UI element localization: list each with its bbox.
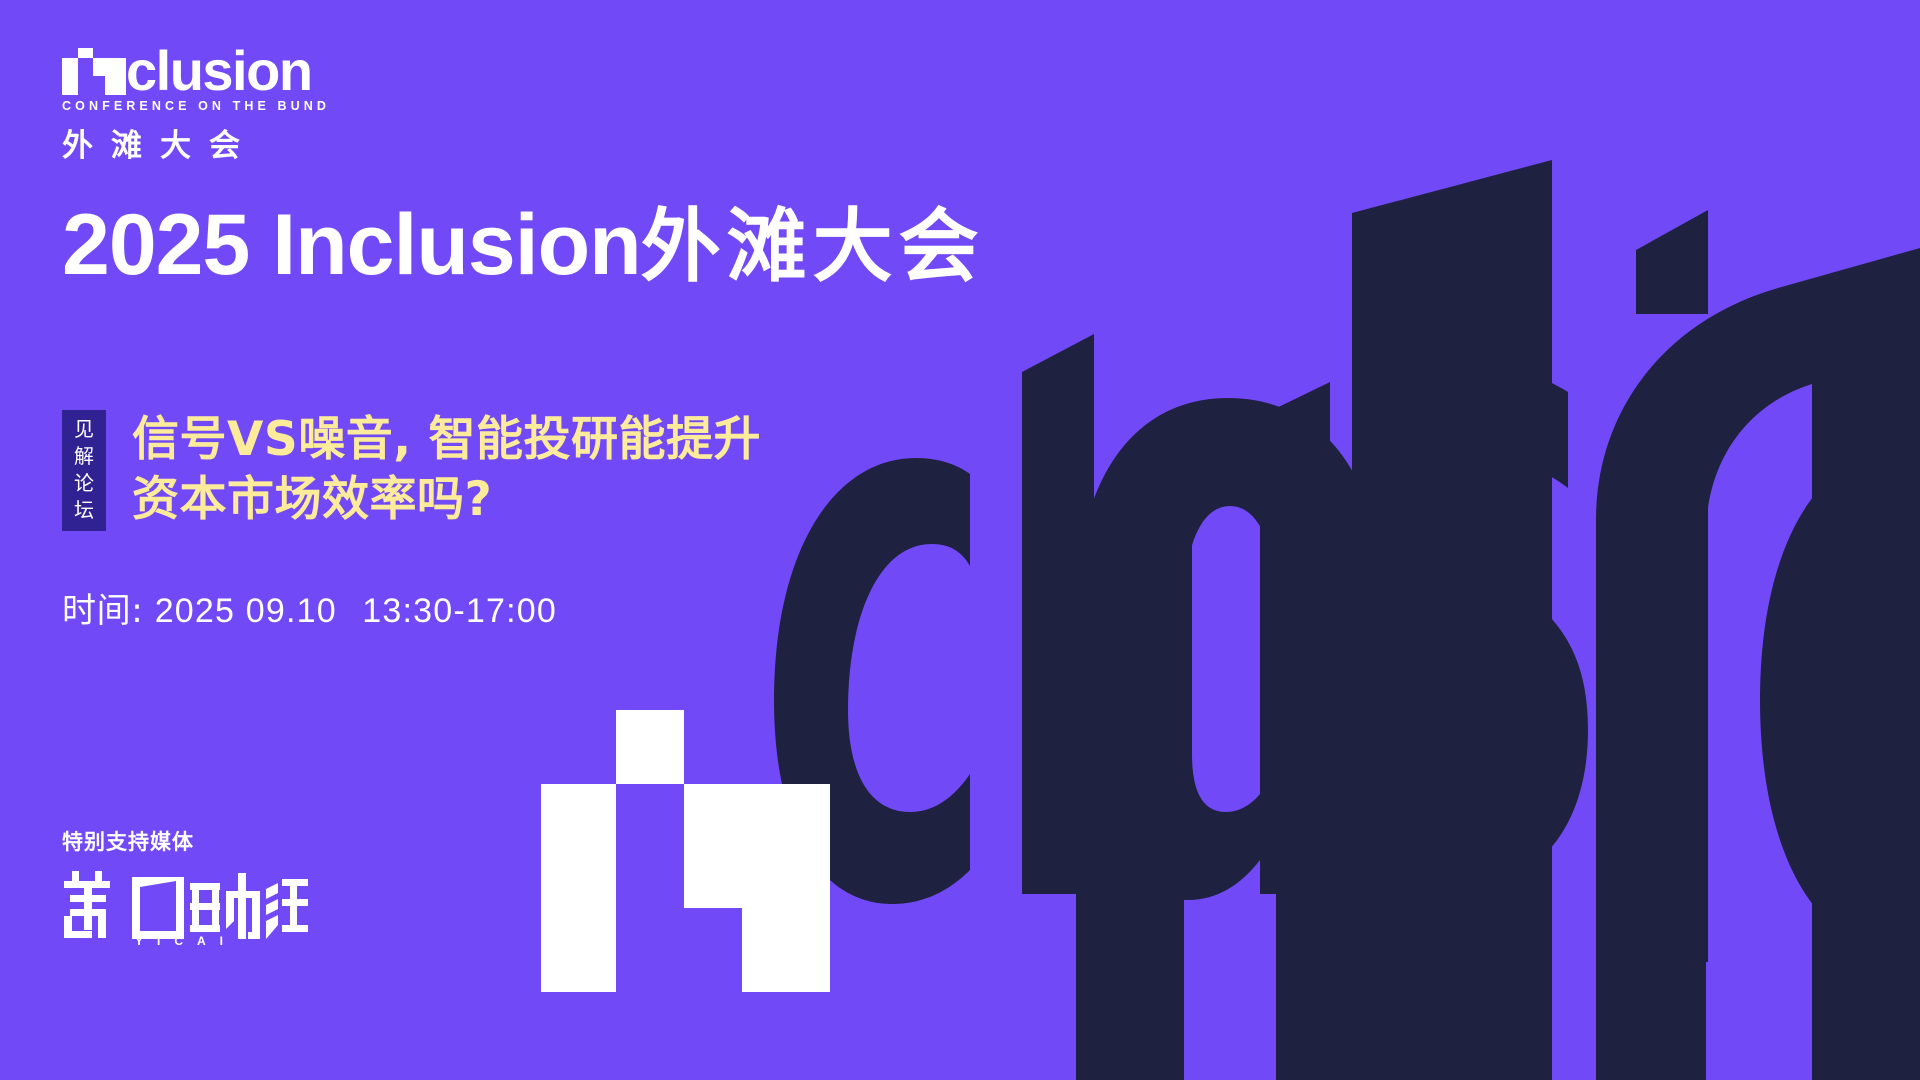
- header-logo-wordmark: clusion: [62, 48, 332, 96]
- session-subtitle-line-2: 资本市场效率吗?: [132, 470, 761, 530]
- forum-badge-char-3: 论: [62, 470, 106, 497]
- yicai-logo-latin: YICAI: [135, 934, 237, 947]
- yicai-logo-char-jing: [266, 879, 308, 939]
- header-logo[interactable]: clusion CONFERENCE ON THE BUND 外滩大会: [62, 48, 332, 165]
- event-time: 时间: 2025 09.10 13:30-17:00: [62, 583, 557, 632]
- in-block-icon: [62, 48, 126, 95]
- forum-badge-char-1: 见: [62, 416, 106, 443]
- session-subtitle: 信号VS噪音, 智能投研能提升 资本市场效率吗?: [132, 410, 761, 530]
- yicai-logo-char-di: [64, 871, 110, 938]
- session-subtitle-block: 见 解 论 坛 信号VS噪音, 智能投研能提升 资本市场效率吗?: [62, 410, 761, 531]
- event-time-label: 时间:: [62, 591, 143, 631]
- yicai-logo-char-cai: [190, 873, 260, 939]
- yicai-logo-char-yi: [132, 877, 184, 939]
- poster-canvas: clusion CONFERENCE ON THE BUND 外滩大会 2025…: [0, 0, 1920, 1080]
- media-sponsor-block: 特别支持媒体: [62, 826, 310, 952]
- page-title-cn: 外滩大会: [641, 200, 985, 293]
- forum-badge: 见 解 论 坛: [62, 410, 106, 531]
- header-logo-wordmark-rest: clusion: [126, 45, 312, 97]
- media-sponsor-label: 特别支持媒体: [62, 826, 310, 856]
- event-date: 2025 09.10: [155, 592, 337, 630]
- session-subtitle-line-1: 信号VS噪音, 智能投研能提升: [132, 410, 761, 470]
- yicai-logo[interactable]: YICAI: [62, 869, 310, 947]
- event-time-range: 13:30-17:00: [348, 592, 557, 630]
- page-title-en: 2025 Inclusion: [62, 197, 641, 293]
- page-title: 2025 Inclusion外滩大会: [62, 197, 985, 295]
- svg-text:YICAI: YICAI: [135, 934, 237, 947]
- header-logo-chinese-name: 外滩大会: [62, 120, 332, 165]
- forum-badge-char-2: 解: [62, 443, 106, 470]
- forum-badge-char-4: 坛: [62, 497, 106, 524]
